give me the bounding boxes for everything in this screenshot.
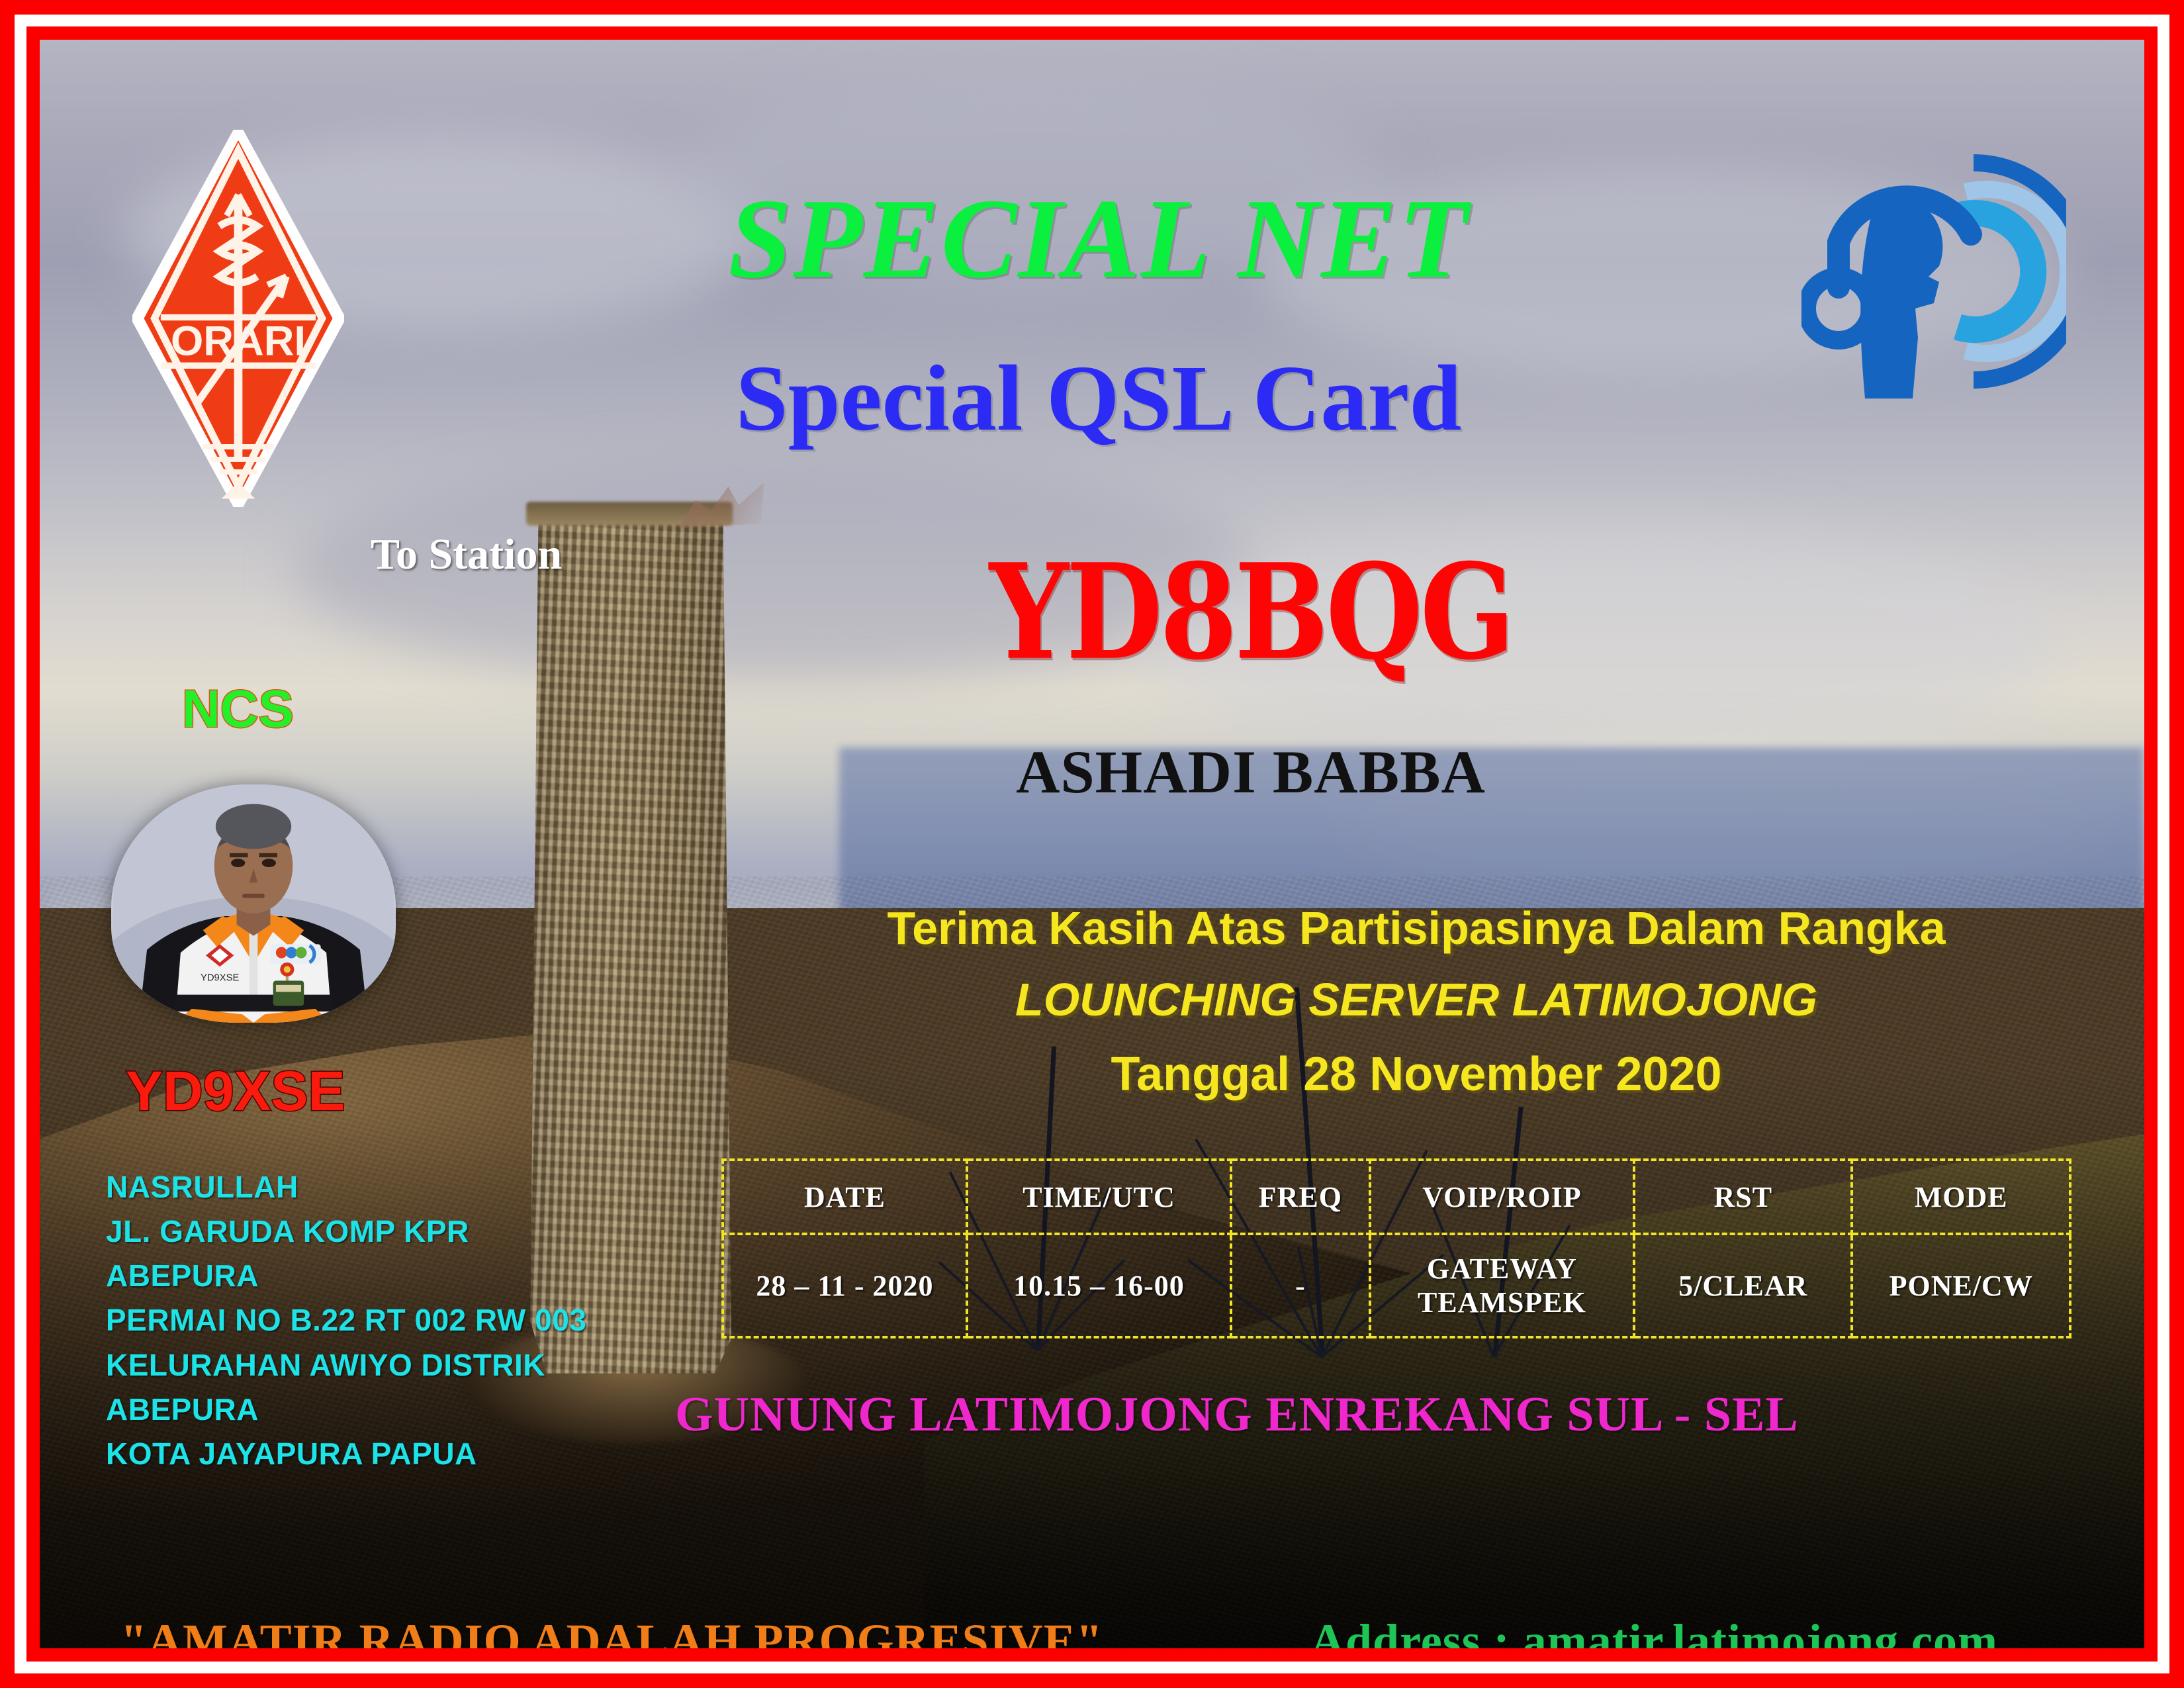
thanks-line-2: LOUNCHING SERVER LATIMOJONG bbox=[754, 972, 2078, 1027]
station-callsign: YD8BQG bbox=[900, 546, 1602, 677]
orari-logo: ORARI bbox=[132, 130, 344, 507]
cell-voip-line-1: GATEWAY bbox=[1371, 1252, 1633, 1286]
cell-freq: - bbox=[1231, 1234, 1370, 1337]
thanks-line-1: Terima Kasih Atas Partisipasinya Dalam R… bbox=[754, 900, 2078, 956]
address-line: ABEPURA bbox=[106, 1254, 586, 1298]
cell-voip-line-2: TEAMSPEK bbox=[1371, 1286, 1633, 1319]
column-header-time: TIME/UTC bbox=[967, 1160, 1231, 1234]
ncs-label: NCS bbox=[182, 679, 294, 739]
cell-rst: 5/CLEAR bbox=[1634, 1234, 1852, 1337]
cell-time: 10.15 – 16-00 bbox=[967, 1234, 1231, 1337]
address-line: PERMAI NO B.22 RT 002 RW 003 bbox=[106, 1298, 586, 1342]
column-header-freq: FREQ bbox=[1231, 1160, 1370, 1234]
page-title: SPECIAL NET bbox=[490, 182, 1707, 296]
radio-headset-logo bbox=[1801, 139, 2066, 404]
table-header-row: DATE TIME/UTC FREQ VOIP/ROIP RST MODE bbox=[723, 1160, 2070, 1234]
location-caption: GUNUNG LATIMOJONG ENREKANG SUL - SEL bbox=[675, 1387, 1933, 1443]
footer-address-url: Address : amatir.latimojong.com bbox=[1310, 1614, 1998, 1648]
table-row: 28 – 11 - 2020 10.15 – 16-00 - GATEWAY T… bbox=[723, 1234, 2070, 1337]
address-line: KOTA JAYAPURA PAPUA bbox=[106, 1432, 586, 1476]
column-header-date: DATE bbox=[723, 1160, 967, 1234]
background-photo: ORARI bbox=[40, 40, 2144, 1648]
to-station-label: To Station bbox=[371, 530, 562, 580]
ncs-operator-avatar: YD9XSE bbox=[111, 784, 396, 1023]
cell-mode: PONE/CW bbox=[1852, 1234, 2070, 1337]
station-address: NASRULLAH JL. GARUDA KOMP KPR ABEPURA PE… bbox=[106, 1165, 586, 1476]
column-header-rst: RST bbox=[1634, 1160, 1852, 1234]
column-header-mode: MODE bbox=[1852, 1160, 2070, 1234]
column-header-voip: VOIP/ROIP bbox=[1370, 1160, 1634, 1234]
footer-motto: "AMATIR RADIO ADALAH PROGRESIVE" bbox=[120, 1614, 1103, 1648]
orari-logo-svg: ORARI bbox=[132, 130, 344, 507]
page-subtitle: Special QSL Card bbox=[490, 351, 1707, 445]
qso-log-table: DATE TIME/UTC FREQ VOIP/ROIP RST MODE 28… bbox=[721, 1158, 2071, 1338]
thanks-line-3: Tanggal 28 November 2020 bbox=[754, 1046, 2078, 1103]
address-line: KELURAHAN AWIYO DISTRIK bbox=[106, 1343, 586, 1387]
avatar-illustration: YD9XSE bbox=[111, 784, 396, 1023]
cell-date: 28 – 11 - 2020 bbox=[723, 1234, 967, 1337]
card-white-frame: ORARI bbox=[15, 15, 2169, 1673]
ncs-callsign: YD9XSE bbox=[126, 1059, 345, 1123]
thanks-message: Terima Kasih Atas Partisipasinya Dalam R… bbox=[754, 900, 2078, 1103]
address-line: JL. GARUDA KOMP KPR bbox=[106, 1209, 586, 1254]
shirt-callsign-patch: YD9XSE bbox=[201, 972, 240, 983]
cell-voip: GATEWAY TEAMSPEK bbox=[1370, 1234, 1634, 1337]
address-line: NASRULLAH bbox=[106, 1165, 586, 1209]
radio-headset-logo-svg bbox=[1801, 139, 2066, 404]
address-line: ABEPURA bbox=[106, 1387, 586, 1432]
orari-logo-text: ORARI bbox=[171, 318, 306, 364]
operator-name: ASHADI BABBA bbox=[900, 741, 1602, 802]
qsl-card: ORARI bbox=[0, 0, 2184, 1688]
card-inner-red-frame: ORARI bbox=[26, 26, 2158, 1662]
